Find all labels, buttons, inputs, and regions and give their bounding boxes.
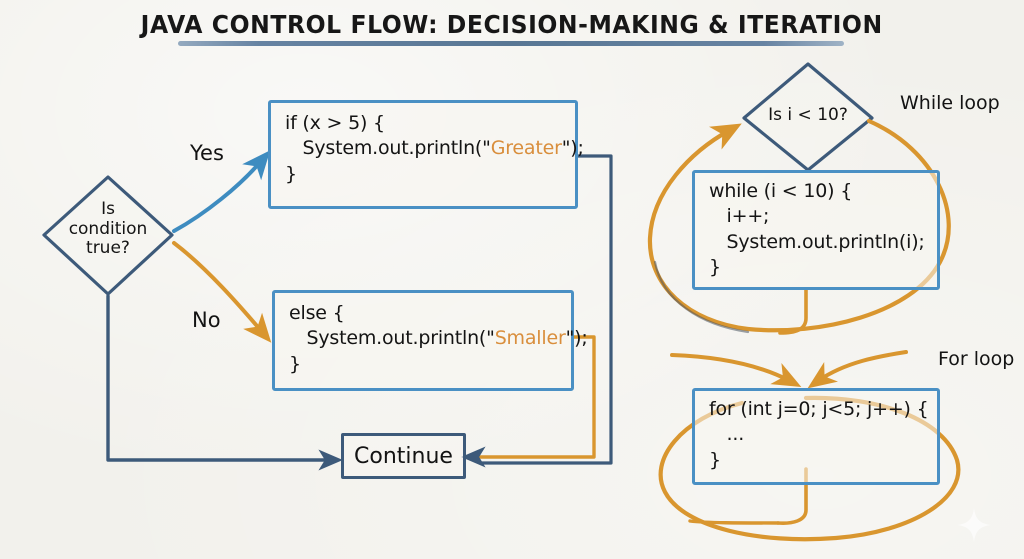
diagram-canvas: JAVA CONTROL FLOW: DECISION-MAKING & ITE…	[0, 0, 1024, 559]
yes-arrow	[174, 160, 262, 231]
no-label: No	[192, 308, 221, 332]
for-code-line-2: }	[709, 448, 925, 473]
sparkle-icon	[957, 508, 991, 542]
for-code-box: for (int j=0; j<5; j++) { ... }	[692, 388, 940, 485]
continue-node: Continue	[341, 433, 466, 479]
while-body-exit-stub	[780, 290, 806, 333]
while-code-line-3: }	[709, 255, 925, 280]
decision-label-line1: Is	[48, 200, 168, 220]
decision-label-line3: true?	[48, 239, 168, 259]
continue-label: Continue	[354, 444, 453, 469]
for-code-line-0: for (int j=0; j<5; j++) {	[709, 397, 925, 422]
while-code-box: while (i < 10) { i++; System.out.println…	[692, 170, 940, 290]
for-entry-arrow-right	[818, 352, 906, 381]
while-code-line-2: System.out.println(i);	[709, 230, 925, 255]
decision-label-line2: condition	[48, 220, 168, 240]
while-loop-label: While loop	[900, 92, 1000, 114]
title-block: JAVA CONTROL FLOW: DECISION-MAKING & ITE…	[0, 10, 1024, 39]
yes-label: Yes	[190, 141, 224, 165]
title-underline	[178, 41, 844, 46]
for-code-line-1: ...	[709, 422, 925, 447]
if-code-line-0: if (x > 5) {	[285, 111, 563, 136]
for-loop-label: For loop	[938, 348, 1014, 370]
else-code-line-2: }	[289, 352, 559, 377]
while-condition-label: Is i < 10?	[748, 106, 868, 126]
while-code-line-0: while (i < 10) {	[709, 179, 925, 204]
if-code-line-1: System.out.println("Greater");	[285, 136, 563, 161]
for-loop-return-band	[690, 521, 778, 523]
else-code-line-1: System.out.println("Smaller");	[289, 326, 559, 351]
for-entry-arrow-left	[672, 355, 790, 381]
decision-diamond-label: Is condition true?	[48, 200, 168, 259]
else-code-box: else { System.out.println("Smaller"); }	[272, 290, 574, 391]
if-code-line-2: }	[285, 162, 563, 187]
if-code-box: if (x > 5) { System.out.println("Greater…	[268, 100, 578, 209]
page-title: JAVA CONTROL FLOW: DECISION-MAKING & ITE…	[141, 10, 883, 39]
while-code-line-1: i++;	[709, 204, 925, 229]
else-code-line-0: else {	[289, 301, 559, 326]
